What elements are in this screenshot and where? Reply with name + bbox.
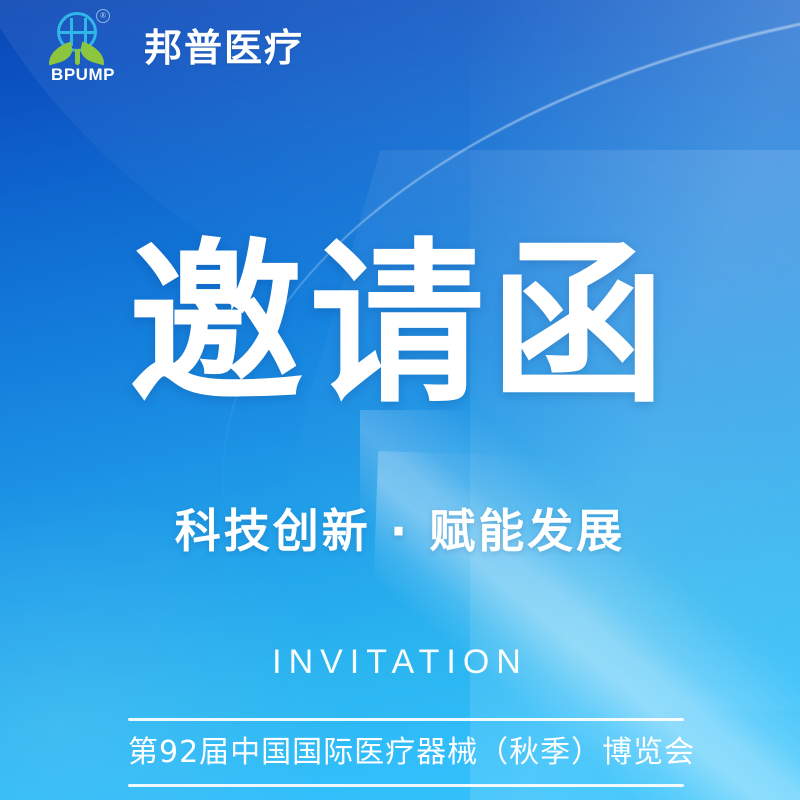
invitation-poster: ® BPUMP 邦普医疗 邀请函 科技创新 · 赋能发展 INVITATION … [0, 0, 800, 800]
leaf-left-icon [46, 42, 75, 66]
footer: 第92届中国国际医疗器械（秋季）博览会 [128, 718, 684, 787]
bpump-logo-icon: ® BPUMP [44, 9, 122, 87]
company-name: 邦普医疗 [144, 29, 304, 67]
logo-wordmark: BPUMP [42, 65, 124, 85]
leaf-stem-icon [75, 49, 80, 65]
page-subtitle: 科技创新 · 赋能发展 [0, 508, 800, 554]
page-title-english: INVITATION [0, 645, 800, 679]
page-title: 邀请函 [0, 238, 800, 413]
brand-header: ® BPUMP 邦普医疗 [0, 0, 800, 96]
footer-rule-bottom [128, 784, 684, 787]
leaf-right-icon [79, 42, 108, 66]
registered-trademark-icon: ® [96, 9, 110, 23]
event-name: 第92届中国国际医疗器械（秋季）博览会 [128, 721, 684, 784]
